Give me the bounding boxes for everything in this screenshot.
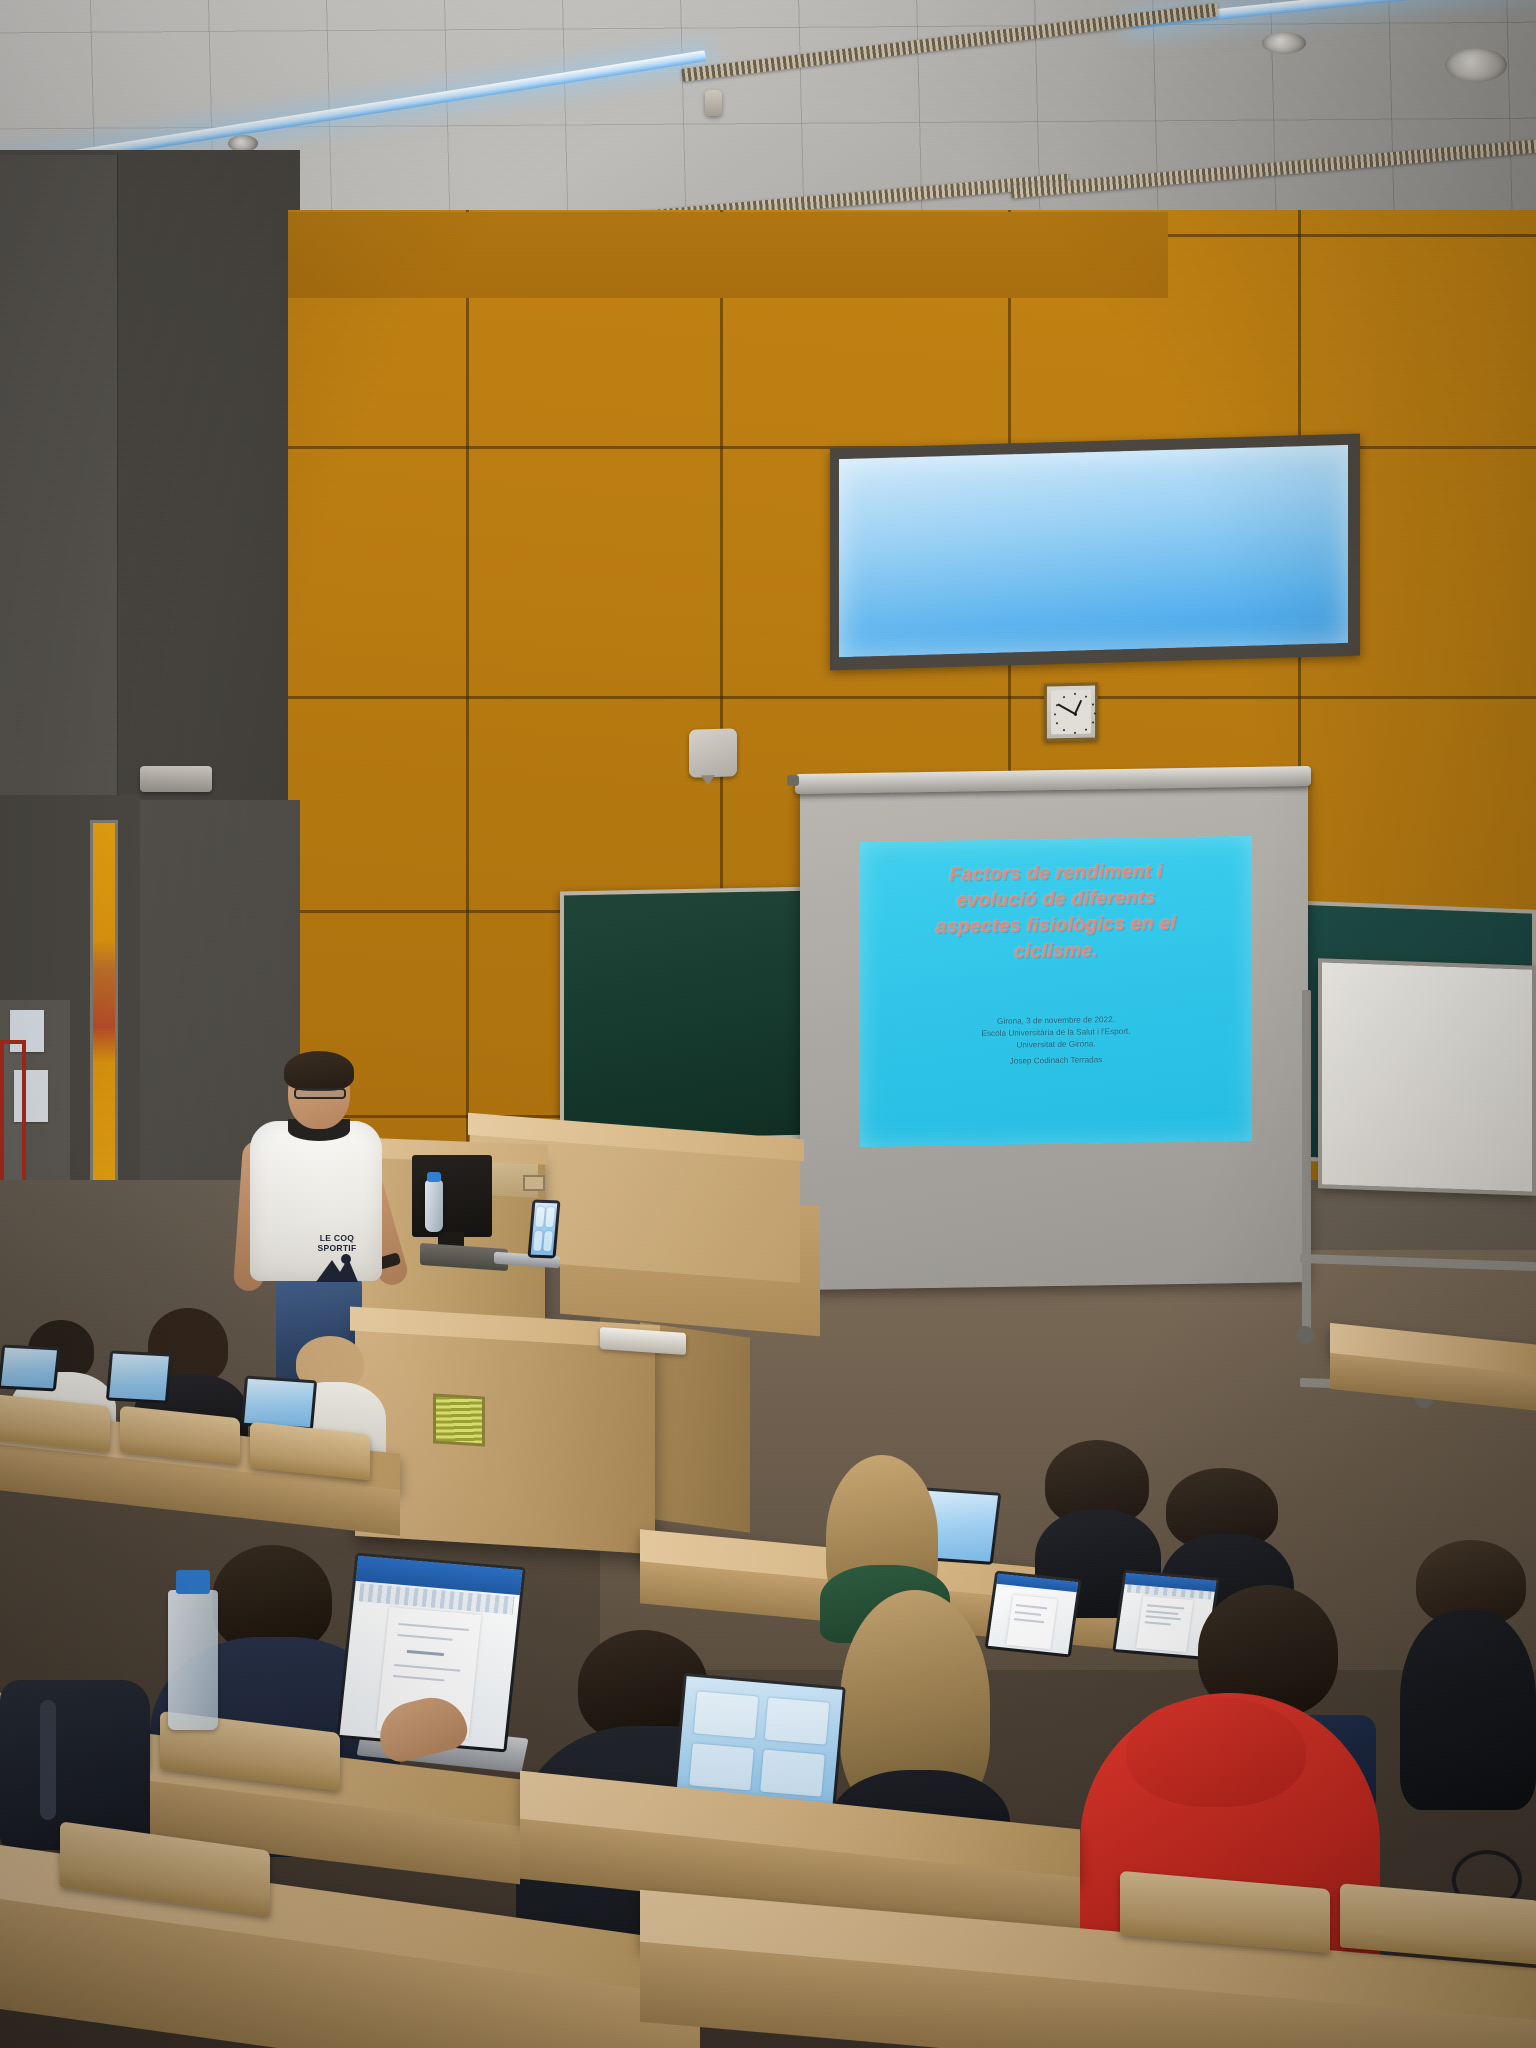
clock-face: [1051, 690, 1091, 735]
wall-speaker-box: [689, 728, 737, 777]
clock-minute-hand: [1058, 703, 1076, 714]
hoodie-hood: [1126, 1697, 1306, 1807]
student-top: [1400, 1610, 1536, 1810]
student-laptop[interactable]: [985, 1570, 1082, 1657]
slide-subtitle: Girona, 3 de novembre de 2022. Escola Un…: [870, 1012, 1242, 1054]
chalkboard-left: [560, 887, 816, 1144]
ceiling-speaker: [1445, 48, 1507, 82]
fire-equipment-frame: [0, 1040, 26, 1200]
window-glass-sky: [839, 445, 1348, 657]
wall-panel-left-upper: [0, 155, 118, 795]
bottle-cap: [427, 1172, 441, 1182]
student-laptop[interactable]: [106, 1350, 172, 1403]
screen-tiles: [533, 1207, 555, 1251]
desktop-monitor: [412, 1155, 492, 1237]
presenter-tshirt: LE COQ SPORTIF: [250, 1121, 382, 1281]
podium-vent-grille: [433, 1393, 485, 1446]
projection-screen: Factors de rendiment i evolució de difer…: [800, 782, 1308, 1290]
podium-block: [355, 1321, 655, 1554]
podium-block-side: [640, 1322, 750, 1532]
presenter-glasses: [294, 1088, 346, 1099]
presentation-slide: Factors de rendiment i evolució de difer…: [860, 836, 1252, 1147]
water-bottle[interactable]: [168, 1590, 218, 1730]
slide-title: Factors de rendiment i evolució de difer…: [870, 858, 1242, 968]
whiteboard-stand-leg: [1302, 990, 1311, 1330]
power-socket[interactable]: [523, 1175, 545, 1191]
wall-seam: [288, 696, 1536, 699]
ceiling-speaker: [1262, 32, 1306, 54]
lecture-hall-photo: Factors de rendiment i evolució de difer…: [0, 0, 1536, 2048]
clerestory-window: [830, 434, 1360, 671]
rooster-logo-icon: [302, 1246, 372, 1290]
laptop-screen: [109, 1354, 169, 1401]
lectern-laptop[interactable]: [527, 1200, 560, 1259]
whiteboard-caster: [1296, 1326, 1314, 1344]
backpack-strap: [40, 1700, 56, 1820]
laptop-screen: [244, 1379, 314, 1428]
bottle-cap: [176, 1570, 210, 1594]
student: [1400, 1540, 1536, 1820]
presenter-hair: [284, 1051, 354, 1091]
wall-light-fitting: [140, 766, 212, 792]
door-vision-panel: [90, 820, 118, 1190]
laptop-screen-document: [988, 1574, 1078, 1654]
laptop-screen: [1, 1348, 57, 1389]
wall-upper-left-strip: [288, 212, 1168, 298]
water-bottle[interactable]: [425, 1180, 443, 1232]
wall-seam-vertical: [466, 210, 469, 1270]
tshirt-logo: LE COQ SPORTIF: [302, 1233, 372, 1289]
wall-clock: [1044, 682, 1098, 741]
mobile-whiteboard: [1318, 958, 1536, 1196]
slide-title-line: ciclisme.: [870, 936, 1242, 968]
student-laptop[interactable]: [0, 1344, 60, 1391]
slide-author: Josep Codinach Terradas: [870, 1052, 1242, 1070]
lectern-laptop-screen: [531, 1203, 558, 1256]
ceiling-sprinkler: [705, 90, 722, 116]
